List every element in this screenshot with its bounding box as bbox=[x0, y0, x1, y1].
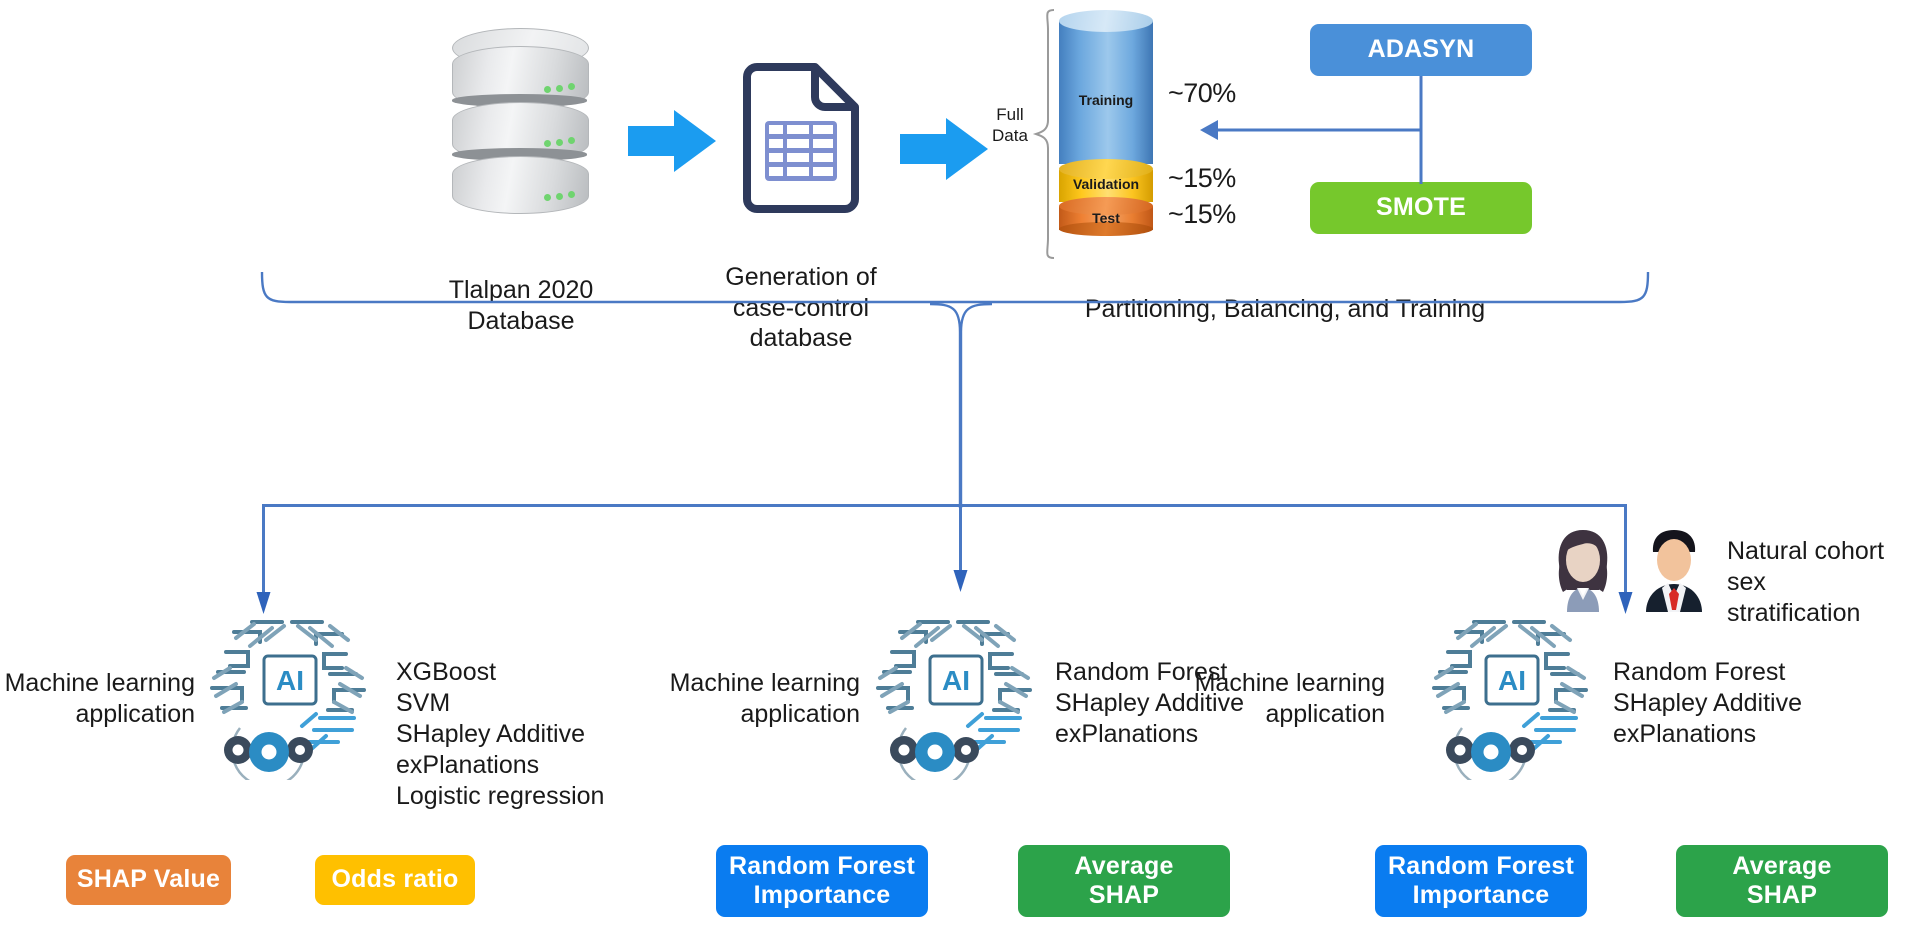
random-forest-importance-label: Random Forest Importance bbox=[729, 852, 915, 911]
average-shap-box-right[interactable]: Average SHAP bbox=[1676, 845, 1888, 917]
split-segment-test: Test bbox=[1059, 202, 1153, 236]
branch-middle-application-label: Machine learning application bbox=[645, 668, 860, 730]
split-label-test: Test bbox=[1059, 210, 1153, 226]
shap-value-box[interactable]: SHAP Value bbox=[66, 855, 231, 905]
gather-stem bbox=[930, 298, 992, 508]
smote-box[interactable]: SMOTE bbox=[1310, 182, 1532, 234]
ai-chip-icon: AI bbox=[196, 610, 380, 780]
flow-arrow-2 bbox=[900, 118, 990, 180]
branch-left-application-label: Machine learning application bbox=[0, 668, 195, 730]
document-table-icon bbox=[739, 63, 863, 213]
svg-text:AI: AI bbox=[1498, 665, 1526, 696]
branch-right-methods: Random Forest SHapley Additive exPlanati… bbox=[1613, 657, 1903, 750]
svg-text:AI: AI bbox=[942, 665, 970, 696]
ai-chip-icon: AI bbox=[862, 610, 1046, 780]
balancer-connector bbox=[1200, 76, 1430, 188]
average-shap-label: Average SHAP bbox=[1074, 852, 1173, 911]
svg-text:AI: AI bbox=[276, 665, 304, 696]
average-shap-label: Average SHAP bbox=[1732, 852, 1831, 911]
distribution-bar bbox=[263, 504, 1627, 507]
shap-value-label: SHAP Value bbox=[77, 865, 220, 895]
full-data-label: Full Data bbox=[980, 104, 1040, 147]
branch-arrow-middle bbox=[953, 504, 969, 592]
random-forest-importance-box-middle[interactable]: Random Forest Importance bbox=[716, 845, 928, 917]
branch-arrow-left bbox=[256, 504, 272, 614]
adasyn-label: ADASYN bbox=[1368, 35, 1475, 65]
data-split-cylinder: Training Validation Test bbox=[1059, 10, 1153, 215]
split-label-training: Training bbox=[1059, 92, 1153, 108]
flow-arrow-1 bbox=[628, 110, 718, 172]
branch-arrow-right bbox=[1618, 504, 1634, 614]
female-avatar-icon bbox=[1547, 526, 1619, 612]
ai-chip-icon: AI bbox=[1418, 610, 1602, 780]
random-forest-importance-label: Random Forest Importance bbox=[1388, 852, 1574, 911]
database-icon bbox=[452, 28, 587, 214]
male-avatar-icon bbox=[1638, 526, 1710, 612]
branch-right-application-label: Machine learning application bbox=[1170, 668, 1385, 730]
cohort-stratification-note: Natural cohort sex stratification bbox=[1727, 536, 1910, 629]
split-segment-training: Training bbox=[1059, 10, 1153, 164]
smote-label: SMOTE bbox=[1376, 193, 1466, 223]
random-forest-importance-box-right[interactable]: Random Forest Importance bbox=[1375, 845, 1587, 917]
odds-ratio-label: Odds ratio bbox=[331, 865, 458, 895]
average-shap-box-middle[interactable]: Average SHAP bbox=[1018, 845, 1230, 917]
adasyn-box[interactable]: ADASYN bbox=[1310, 24, 1532, 76]
odds-ratio-box[interactable]: Odds ratio bbox=[315, 855, 475, 905]
split-percent-test: ~15% bbox=[1168, 199, 1236, 230]
split-label-validation: Validation bbox=[1059, 176, 1153, 192]
